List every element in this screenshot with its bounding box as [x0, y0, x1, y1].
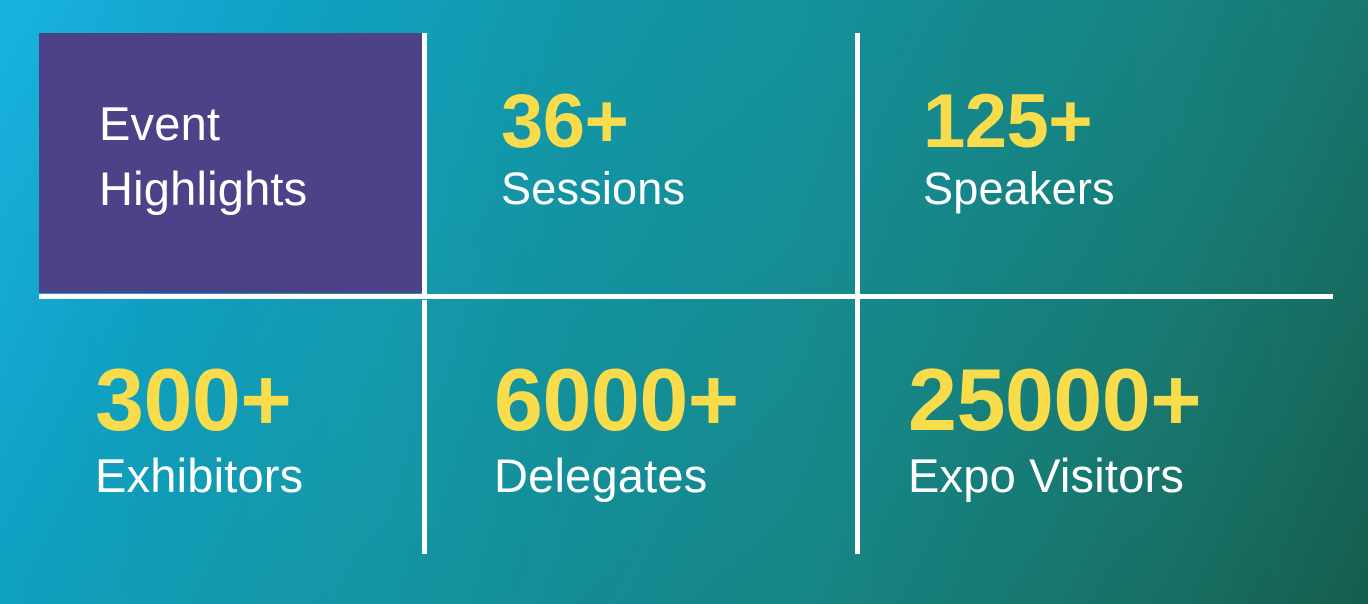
event-highlights-infographic: Event Highlights 36+ Sessions 125+ Speak… [0, 0, 1368, 604]
stat-cell-delegates: 6000+ Delegates [494, 357, 739, 499]
stat-cell-expo-visitors: 25000+ Expo Visitors [908, 357, 1201, 499]
stat-label-speakers: Speakers [923, 166, 1115, 211]
vertical-divider-column1-bottom [422, 300, 427, 554]
vertical-divider-column2 [855, 33, 860, 554]
vertical-divider-column1-top [422, 33, 427, 294]
stat-cell-speakers: 125+ Speakers [923, 85, 1115, 211]
panel-title-line-1: Event [99, 91, 422, 156]
stat-cell-sessions: 36+ Sessions [501, 85, 685, 211]
stat-label-exhibitors: Exhibitors [95, 452, 303, 499]
stat-number-exhibitors: 300+ [95, 357, 303, 443]
stat-label-delegates: Delegates [494, 452, 739, 499]
stat-number-speakers: 125+ [923, 85, 1115, 159]
stat-cell-exhibitors: 300+ Exhibitors [95, 357, 303, 499]
stat-label-sessions: Sessions [501, 166, 685, 211]
stat-number-sessions: 36+ [501, 85, 685, 159]
stat-label-expo-visitors: Expo Visitors [908, 452, 1201, 499]
event-highlights-panel: Event Highlights [39, 33, 422, 293]
panel-title-line-2: Highlights [99, 156, 422, 221]
stat-number-expo-visitors: 25000+ [908, 357, 1201, 443]
horizontal-divider [39, 294, 1333, 299]
stat-number-delegates: 6000+ [494, 357, 739, 443]
